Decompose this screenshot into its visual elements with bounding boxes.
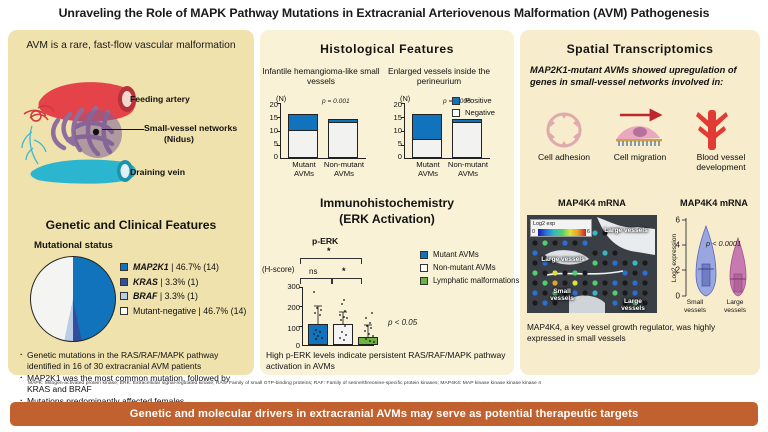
sig-star-right: * — [342, 266, 346, 276]
map-annotation-small-vessels: Small vessels — [545, 288, 579, 303]
chart-b-yaxis — [404, 103, 405, 159]
chart-b-xaxis — [404, 158, 490, 159]
swatch-icon — [120, 278, 128, 286]
sig-bracket-outer — [300, 258, 362, 264]
swatch-icon — [120, 263, 128, 271]
chart-a-xaxis — [280, 158, 366, 159]
legend-value: 3.3% (1) — [165, 277, 198, 287]
ihc-error-bars-and-points — [300, 282, 384, 346]
cell-migration-caption: Cell migration — [604, 152, 676, 162]
ihc-ytick: 200 — [282, 303, 300, 312]
chart-b-ytick: 0 — [388, 152, 402, 161]
tick-mark — [277, 117, 280, 118]
swatch-icon — [120, 307, 128, 315]
ihc-heading-line1: Immunohistochemistry — [320, 196, 454, 210]
cell-adhesion-caption: Cell adhesion — [528, 152, 600, 162]
legend-value: 46.7% (14) — [176, 262, 219, 272]
ihc-note: High p-ERK levels indicate persistent RA… — [266, 350, 510, 372]
swatch-icon — [420, 251, 428, 259]
chart-b-bar-mutant-negative — [412, 139, 442, 158]
map-annotation-large-vessels-mid: Large vessels — [535, 256, 591, 263]
poster-root: Unraveling the Role of MAPK Pathway Muta… — [0, 0, 768, 432]
chart-b-ytick: 10 — [388, 126, 402, 135]
spatial-transcriptomics-heading: Spatial Transcriptomics — [520, 42, 760, 56]
ihc-pvalue: p < 0.05 — [388, 318, 417, 327]
colorbar-label: Log2 exp — [533, 221, 555, 227]
tick-mark — [401, 131, 404, 132]
ihc-chart-title: p-ERK — [312, 236, 338, 246]
abbreviations-footnote: MAPK: Mitogen-activated protein kinase; … — [28, 381, 744, 386]
chart-b-bar-mutant-positive — [412, 114, 442, 140]
conclusion-banner: Genetic and molecular drivers in extracr… — [10, 402, 758, 426]
mutational-status-pie-chart — [30, 256, 116, 342]
map4k4-map-title: MAP4K4 mRNA — [527, 198, 657, 208]
legend-gene-name: Mutant-negative — [133, 306, 196, 316]
tick-mark — [277, 103, 280, 104]
map-annotation-large-vessels-top: Large vessels — [598, 227, 654, 234]
chart-a-bar-mutant-positive — [288, 114, 318, 131]
ihc-legend: Mutant AVMs Non-mutant AVMs Lymphatic ma… — [420, 250, 519, 289]
violin-category-small-vessels: Smallvessels — [676, 299, 714, 315]
chart-a-ytick: 0 — [264, 152, 278, 161]
colorbar-gradient — [538, 229, 586, 236]
legend-label: Mutant AVMs — [433, 250, 479, 259]
swatch-icon — [420, 277, 428, 285]
chart-b-bar-nonmutant-negative — [452, 122, 482, 158]
page-title: Unraveling the Role of MAPK Pathway Muta… — [0, 6, 768, 20]
chart-b-ytick: 5 — [388, 139, 402, 148]
legend-item-nonmutant-avms: Non-mutant AVMs — [420, 263, 519, 272]
violin-category-large-vessels: Largevessels — [716, 299, 754, 315]
legend-item-mutant-avms: Mutant AVMs — [420, 250, 519, 259]
legend-label: Positive — [465, 96, 492, 105]
legend-label: Non-mutant AVMs — [433, 263, 496, 272]
pie-legend: MAP2K1 | 46.7% (14) KRAS | 3.3% (1) BRAF… — [120, 262, 250, 320]
label-small-vessel-networks: Small-vessel networks — [144, 123, 237, 133]
cell-adhesion-icon — [536, 110, 592, 150]
bullet-text: Genetic mutations in the RAS/RAF/MAPK pa… — [27, 350, 218, 371]
chart-a-category-label: Non-mutantAVMs — [322, 161, 366, 179]
chart-a-yaxis — [280, 103, 281, 159]
label-draining-vein: Draining vein — [130, 167, 185, 177]
chart-a-category-label: MutantAVMs — [286, 161, 322, 179]
legend-label: Negative — [465, 108, 495, 117]
chart-a-ytick: 15 — [264, 113, 278, 122]
chart-a-ytick: 20 — [264, 100, 278, 109]
caption-line2: development — [696, 162, 745, 172]
chart-a-bar-nonmutant-positive — [328, 119, 358, 123]
chart-b-category-label: MutantAVMs — [410, 161, 446, 179]
legend-item-negative: Negative — [452, 108, 495, 117]
swatch-icon — [420, 264, 428, 272]
chart-a-ytick: 10 — [264, 126, 278, 135]
chart-b-category-label: Non-mutantAVMs — [446, 161, 490, 179]
legend-label: Lymphatic malformations — [433, 276, 519, 285]
colorbar-min: 0 — [532, 229, 535, 235]
violin-pvalue: p < 0.0001 — [706, 239, 741, 248]
map-annotation-large-vessels-bottom: Large vessels — [612, 298, 654, 313]
panel-avm-overview: AVM is a rare, fast-flow vascular malfor… — [8, 30, 254, 375]
list-item: Genetic mutations in the RAS/RAF/MAPK pa… — [20, 350, 248, 372]
chart-b-subtitle: Enlarged vessels inside the perineurium — [384, 66, 494, 86]
legend-item-positive: Positive — [452, 96, 495, 105]
cell-migration-icon — [608, 108, 672, 150]
legend-item-braf: BRAF | 3.3% (1) — [120, 291, 250, 301]
nidus-leader-line — [102, 129, 144, 130]
chart-b-ytick: 20 — [388, 100, 402, 109]
histology-legend: Positive Negative — [452, 96, 495, 120]
chart-a-bar-mutant-negative — [288, 130, 318, 158]
spatial-note: MAP4K4, a key vessel growth regulator, w… — [527, 322, 755, 344]
ihc-ytick: 300 — [282, 282, 300, 291]
swatch-icon — [452, 97, 460, 105]
legend-item-map2k1: MAP2K1 | 46.7% (14) — [120, 262, 250, 272]
legend-value: 46.7% (14) — [203, 306, 246, 316]
histological-features-heading: Histological Features — [260, 42, 514, 56]
genetic-features-heading: Genetic and Clinical Features — [8, 218, 254, 232]
ihc-ytick: 0 — [282, 341, 300, 350]
svg-text:Log2 expression: Log2 expression — [671, 233, 678, 282]
sig-ns-label: ns — [309, 267, 317, 276]
caption-line1: Blood vessel — [697, 152, 746, 162]
sig-star-outer: * — [327, 246, 331, 256]
genetic-findings-list: Genetic mutations in the RAS/RAF/MAPK pa… — [20, 350, 248, 408]
tick-mark — [277, 145, 280, 146]
colorbar-max: 6 — [587, 229, 590, 235]
chart-a-bar-nonmutant-negative — [328, 122, 358, 158]
map4k4-violin-title: MAP4K4 mRNA — [668, 198, 760, 208]
mutational-status-label: Mutational status — [34, 240, 113, 251]
chart-b-ytick: 15 — [388, 113, 402, 122]
avm-caption: AVM is a rare, fast-flow vascular malfor… — [8, 40, 254, 51]
ihc-ytick: 100 — [282, 324, 300, 333]
swatch-icon — [120, 292, 128, 300]
legend-value: 3.3% (1) — [165, 291, 198, 301]
legend-item-kras: KRAS | 3.3% (1) — [120, 277, 250, 287]
legend-gene-name: KRAS — [133, 277, 158, 287]
label-feeding-artery: Feeding artery — [130, 94, 190, 104]
blood-vessel-development-caption: Blood vessel development — [684, 152, 758, 173]
pie-slices — [30, 256, 116, 342]
chart-a-pvalue: p = 0.001 — [322, 98, 350, 105]
ihc-heading: Immunohistochemistry (ERK Activation) — [260, 196, 514, 227]
legend-gene-name: MAP2K1 — [133, 262, 169, 272]
colorbar-legend: Log2 exp 0 6 — [530, 219, 592, 237]
legend-item-mutant-negative: Mutant-negative | 46.7% (14) — [120, 306, 250, 316]
tick-mark — [401, 145, 404, 146]
label-nidus: (Nidus) — [164, 134, 194, 144]
ihc-heading-line2: (ERK Activation) — [339, 212, 435, 226]
swatch-icon — [452, 109, 460, 117]
svg-text:6: 6 — [676, 216, 681, 225]
legend-gene-name: BRAF — [133, 291, 157, 301]
tick-mark — [401, 117, 404, 118]
ihc-ylabel: (H-score) — [262, 265, 295, 274]
spatial-lead-text: MAP2K1-mutant AVMs showed upregulation o… — [530, 64, 752, 88]
chart-a-ytick: 5 — [264, 139, 278, 148]
legend-item-lymphatic-malformations: Lymphatic malformations — [420, 276, 519, 285]
tick-mark — [401, 103, 404, 104]
chart-a-subtitle: Infantile hemangioma-like small vessels — [262, 66, 380, 86]
blood-vessel-development-icon — [692, 108, 732, 152]
tick-mark — [277, 131, 280, 132]
